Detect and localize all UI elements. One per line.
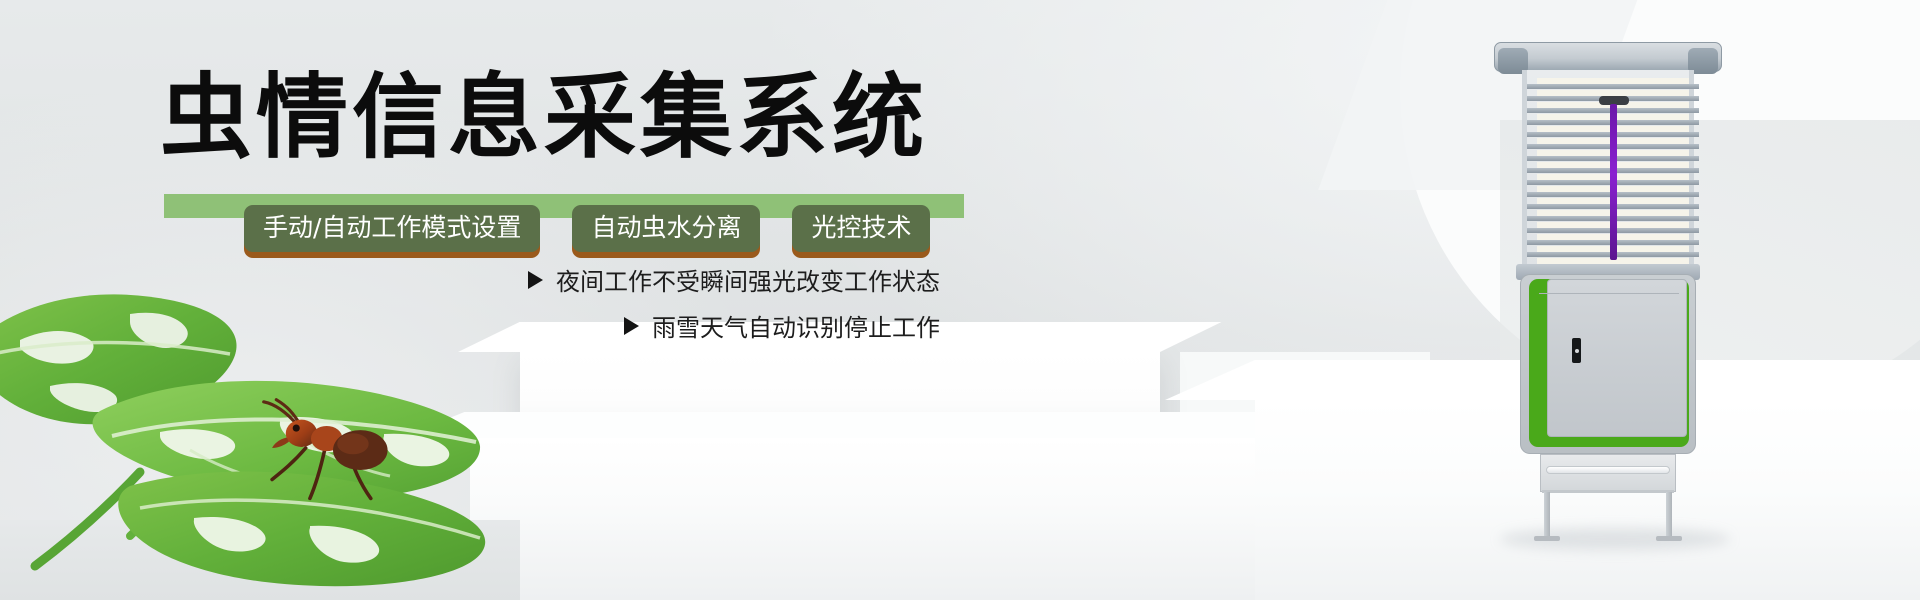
drain-tube (1546, 466, 1670, 474)
uv-lamp (1610, 104, 1617, 260)
insect-trap-device (1518, 42, 1698, 542)
feature-tag-light-control[interactable]: 光控技术 (792, 205, 930, 252)
list-item: 雨雪天气自动识别停止工作 (624, 308, 940, 343)
control-cabinet (1520, 274, 1696, 454)
promo-banner: 虫情信息采集系统 手动/自动工作模式设置 自动虫水分离 光控技术 夜间工作不受瞬… (0, 0, 1920, 600)
leg-brace (1542, 490, 1674, 493)
foot-plate-left (1534, 536, 1560, 541)
support-leg-left (1544, 492, 1550, 540)
triangle-right-icon (624, 317, 639, 335)
triangle-right-icon (528, 271, 543, 289)
podium-low (470, 438, 1370, 600)
cabinet-door[interactable] (1547, 279, 1687, 437)
headline-block: 虫情信息采集系统 (160, 72, 1040, 164)
feature-bullet-list: 夜间工作不受瞬间强光改变工作状态 雨雪天气自动识别停止工作 (0, 262, 940, 343)
foot-plate-right (1656, 536, 1682, 541)
support-leg-right (1666, 492, 1672, 540)
list-item: 夜间工作不受瞬间强光改变工作状态 (528, 262, 940, 297)
leaf-lower (118, 472, 485, 587)
feature-tag-list: 手动/自动工作模式设置 自动虫水分离 光控技术 (244, 205, 930, 252)
bullet-text: 雨雪天气自动识别停止工作 (652, 308, 940, 343)
page-title: 虫情信息采集系统 (160, 72, 1040, 164)
cabinet-green-frame (1529, 279, 1689, 447)
feature-tag-insect-water-separation[interactable]: 自动虫水分离 (572, 205, 760, 252)
louver-cage (1522, 70, 1694, 268)
bullet-text: 夜间工作不受瞬间强光改变工作状态 (556, 262, 940, 297)
door-lock[interactable] (1572, 338, 1581, 363)
feature-tag-work-mode[interactable]: 手动/自动工作模式设置 (244, 205, 540, 252)
cabinet-seam (1539, 293, 1679, 294)
